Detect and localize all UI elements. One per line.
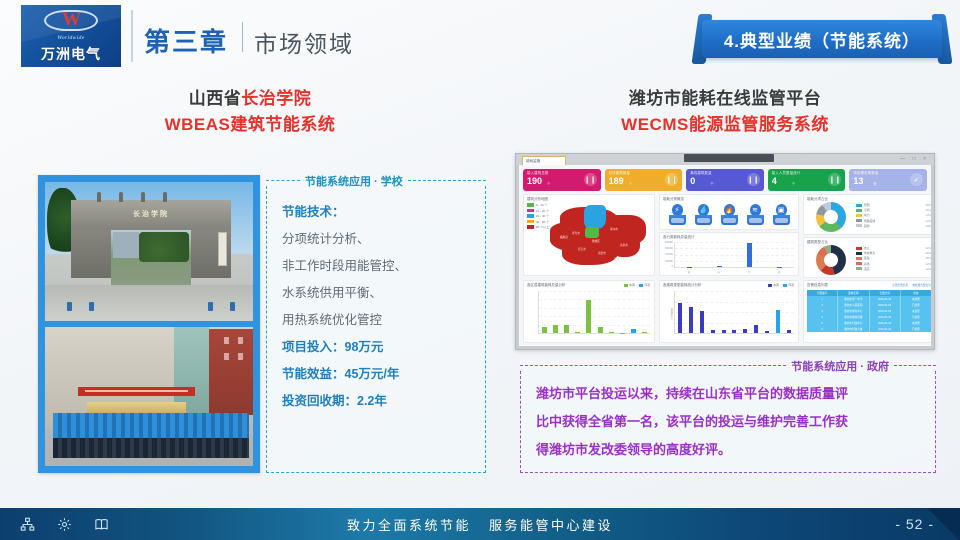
right-title-line2: WECMS能源监管服务系统 bbox=[500, 112, 950, 138]
legend-value: 10% bbox=[925, 224, 931, 228]
building-type-donut-panel: 建筑类型占比 办公32% 学校教育28% 医院18% 商场12% 酒店10% bbox=[803, 237, 931, 278]
chapter-subtitle: 市场领域 bbox=[254, 25, 354, 59]
kpi-unit: 条 bbox=[873, 181, 876, 186]
panel-title: 各区县建筑能耗总量分析 bbox=[527, 283, 566, 288]
legend-value: 26% bbox=[925, 208, 931, 212]
y-axis-labels: 400000 300000 200000 100000 0 bbox=[661, 241, 673, 268]
legend-label: 其他 bbox=[864, 224, 923, 228]
legend-value: 32% bbox=[925, 246, 931, 250]
photo-gallery: 长治学院 bbox=[38, 175, 260, 473]
district-energy-chart: 各区县建筑能耗总量分析 本期 同期 bbox=[523, 280, 655, 343]
map-panel: 建筑分布地图 0 - 10 个 10 - 20 个 20 - 40 个 40 -… bbox=[523, 194, 655, 276]
legend-value: 14% bbox=[925, 213, 931, 217]
bar bbox=[687, 267, 692, 268]
company-logo: W Worldwide 万洲电气 bbox=[21, 5, 121, 67]
bar bbox=[678, 303, 682, 333]
table-link[interactable]: 全部告警信息 bbox=[892, 283, 908, 287]
panel-title: 建筑类型占比 bbox=[807, 240, 828, 245]
building-type-energy-chart: 各建筑类型能耗统计分析 本期 同期 能耗(kgce) bbox=[659, 280, 799, 343]
header-divider bbox=[131, 10, 133, 62]
map-region-label: 安丘市 bbox=[578, 247, 586, 251]
bar bbox=[553, 325, 558, 333]
category-energy-chart: 各分类能耗总量统计 400000 300000 200000 100000 0 bbox=[659, 232, 799, 276]
bar bbox=[732, 330, 736, 333]
map-region-label: 临朐县 bbox=[560, 235, 568, 239]
map-region-highlight bbox=[584, 205, 606, 229]
legend-label: 医院 bbox=[864, 256, 923, 260]
bar bbox=[765, 331, 769, 333]
y-tick: 400000 bbox=[665, 241, 673, 244]
left-title-line2: WBEAS建筑节能系统 bbox=[40, 112, 460, 138]
x-tick: 气 bbox=[748, 270, 750, 274]
y-tick: 0 bbox=[672, 265, 673, 268]
bar bbox=[754, 325, 758, 333]
government-application-box: 节能系统应用 · 政府 潍坊市平台投运以来，持续在山东省平台的数据质量评 比中获… bbox=[520, 360, 936, 473]
chapter-separator bbox=[242, 22, 243, 52]
map-region-label: 青州市 bbox=[610, 227, 618, 231]
school-box-content: 节能技术： 分项统计分析、 非工作时段用能管控、 水系统供用平衡、 用热系统优化… bbox=[282, 199, 476, 415]
legend-value: 10% bbox=[925, 267, 931, 271]
kpi-unit: 个 bbox=[547, 181, 550, 186]
logo-company-name: 万洲电气 bbox=[41, 44, 101, 64]
y-axis-title: 能耗(kgce) bbox=[669, 308, 673, 319]
left-case-title: 山西省长治学院 WBEAS建筑节能系统 bbox=[40, 86, 460, 139]
bar bbox=[722, 330, 726, 333]
legend-label: 同期 bbox=[644, 283, 650, 287]
kpi-unit: 个 bbox=[710, 181, 713, 186]
bar bbox=[542, 327, 547, 333]
school-row: 项目投入：98万元 bbox=[282, 334, 476, 361]
legend-label: 办公 bbox=[864, 246, 923, 250]
water-icon[interactable]: 💧 bbox=[695, 204, 712, 225]
school-row: 非工作时段用能管控、 bbox=[282, 253, 476, 280]
kpi-unit: 个 bbox=[629, 181, 632, 186]
legend-value: 12% bbox=[925, 219, 931, 223]
map-region-label: 昌邑市 bbox=[620, 243, 628, 247]
legend-value: 28% bbox=[925, 251, 931, 255]
gov-row: 比中获得全省第一名，该平台的投运与维护完善工作获 bbox=[536, 408, 922, 436]
map-legend: 0 - 10 个 10 - 20 个 20 - 40 个 40 - 80 个 8… bbox=[527, 203, 549, 231]
bar bbox=[586, 300, 591, 333]
campus-gate-photo: 长治学院 bbox=[45, 182, 253, 321]
x-tick: 热 bbox=[778, 270, 780, 274]
bar bbox=[787, 330, 791, 333]
y-tick: 200000 bbox=[665, 253, 673, 256]
bar bbox=[776, 310, 780, 333]
left-title-highlight: 长治学院 bbox=[241, 89, 311, 108]
plot-area bbox=[538, 291, 650, 334]
kpi-card[interactable]: 待处理告警数量 13 条 ✓ bbox=[849, 169, 927, 191]
gov-row: 得潍坊市发改委领导的高度好评。 bbox=[536, 436, 922, 464]
table-row[interactable]: 6 潍坊市科技大厦 2019-01-04 已处理 bbox=[807, 326, 931, 332]
energy-type-panel: 能耗分类概览 ⚡ 💧 🔥 ≋ ▣ bbox=[659, 194, 799, 230]
legend-value: 18% bbox=[925, 256, 931, 260]
school-row: 节能效益：45万元/年 bbox=[282, 361, 476, 388]
icon-glyph: ⚡ bbox=[675, 206, 680, 214]
slogan-right: 服务能管中心建设 bbox=[489, 515, 613, 534]
legend-value: 38% bbox=[925, 203, 931, 207]
bar bbox=[575, 332, 580, 333]
chart-legend: 本期 同期 bbox=[624, 283, 650, 287]
icon-glyph: ▣ bbox=[778, 206, 785, 214]
logo-subtitle: Worldwide bbox=[57, 35, 84, 41]
legend-label: 特殊区域 bbox=[864, 219, 923, 223]
cell: 2019-01-04 bbox=[870, 326, 901, 332]
legend-label: 本期 bbox=[629, 283, 635, 287]
donut-chart[interactable] bbox=[816, 245, 846, 275]
bar bbox=[743, 329, 747, 333]
right-title-line1: 潍坊市能耗在线监管平台 bbox=[500, 86, 950, 112]
map-region-label: 诸城市 bbox=[614, 257, 622, 261]
panel-title: 建筑分布地图 bbox=[527, 197, 548, 202]
y-axis-label: 能耗(kgce) bbox=[661, 291, 673, 334]
table-link[interactable]: 未处理告警信息 bbox=[912, 283, 931, 287]
legend-label: 本期 bbox=[773, 283, 779, 287]
panel-title: 告警信息列表 bbox=[807, 283, 828, 288]
legend-label: 空调 bbox=[864, 208, 923, 212]
donut-legend: 照明38% 空调26% 动力14% 特殊区域12% 其他10% bbox=[856, 203, 931, 229]
left-title-prefix: 山西省 bbox=[189, 89, 242, 108]
panel-title: 各建筑类型能耗统计分析 bbox=[663, 283, 702, 288]
logo-w-mark: W bbox=[44, 8, 98, 32]
gov-box-content: 潍坊市平台投运以来，持续在山东省平台的数据质量评 比中获得全省第一名，该平台的投… bbox=[536, 380, 922, 464]
legend-label: 同期 bbox=[788, 283, 794, 287]
electricity-icon[interactable]: ⚡ bbox=[669, 204, 686, 225]
bar bbox=[631, 329, 636, 333]
y-tick: 100000 bbox=[665, 260, 673, 263]
bar bbox=[564, 325, 569, 333]
gov-row: 潍坊市平台投运以来，持续在山东省平台的数据质量评 bbox=[536, 380, 922, 408]
ceremony-banner bbox=[78, 387, 194, 396]
browser-tab[interactable]: 能耗监管 bbox=[522, 156, 566, 165]
map-region-label: 寿光市 bbox=[572, 231, 580, 235]
cell: 已处理 bbox=[901, 326, 931, 332]
school-row: 分项统计分析、 bbox=[282, 226, 476, 253]
chart-legend: 本期 同期 bbox=[768, 283, 794, 287]
table-links[interactable]: 全部告警信息 未处理告警信息 bbox=[892, 283, 931, 287]
dashboard-screenshot: 能耗监管 — □ × 接入建筑总数 190 个 ❙❙ 在线建筑数量 189 个 … bbox=[515, 153, 935, 350]
weifang-map[interactable]: 寿光市 青州市 昌邑市 诸城市 安丘市 高密市 临朐县 潍城区 bbox=[548, 205, 652, 273]
bar-chart-icon: ❙❙ bbox=[747, 173, 760, 186]
map-region-label: 潍城区 bbox=[592, 239, 600, 243]
legend-label: 照明 bbox=[864, 203, 923, 207]
icon-glyph: ≋ bbox=[752, 206, 758, 214]
bar bbox=[689, 307, 693, 333]
x-axis-labels: 电 水 气 热 bbox=[674, 270, 794, 274]
cell: 6 bbox=[807, 326, 838, 332]
legend-label: 商场 bbox=[864, 262, 923, 266]
kpi-card[interactable]: 离线建筑数量 0 个 ❙❙ bbox=[686, 169, 764, 191]
icon-glyph: 💧 bbox=[699, 206, 708, 214]
kpi-card[interactable]: 接入建筑总数 190 个 ❙❙ bbox=[523, 169, 601, 191]
school-row: 投资回收期：2.2年 bbox=[282, 388, 476, 415]
legend-label: 学校教育 bbox=[864, 251, 923, 255]
alarm-table-panel: 告警信息列表 全部告警信息 未处理告警信息 告警编号 建筑名称 告警时间 状态 … bbox=[803, 280, 931, 343]
kpi-card-row: 接入建筑总数 190 个 ❙❙ 在线建筑数量 189 个 ❙❙ 离线建筑数量 0… bbox=[523, 169, 927, 191]
coal-icon[interactable]: ▣ bbox=[773, 204, 790, 225]
kpi-card[interactable]: 在线建筑数量 189 个 ❙❙ bbox=[605, 169, 683, 191]
bar bbox=[598, 327, 603, 333]
bar bbox=[642, 332, 647, 333]
bar bbox=[711, 330, 715, 333]
tooltip-box bbox=[684, 154, 774, 162]
y-tick: 300000 bbox=[665, 247, 673, 250]
footer-corner-accent bbox=[926, 508, 960, 540]
window-buttons[interactable]: — □ × bbox=[900, 156, 929, 162]
gate-caption: 长治学院 bbox=[71, 209, 231, 219]
chapter-title: 第三章 bbox=[144, 22, 228, 59]
panel-title: 能耗分项占比 bbox=[807, 197, 828, 202]
bar bbox=[609, 332, 614, 333]
x-tick: 电 bbox=[688, 270, 690, 274]
legend-value: 12% bbox=[925, 262, 931, 266]
kpi-unit: 个 bbox=[792, 181, 795, 186]
right-case-title: 潍坊市能耗在线监管平台 WECMS能源监管服务系统 bbox=[500, 86, 950, 139]
ceremony-photo bbox=[45, 327, 253, 466]
check-circle-icon: ✓ bbox=[910, 173, 923, 186]
bar bbox=[747, 243, 752, 267]
bar-chart-icon: ❙❙ bbox=[584, 173, 597, 186]
footer-slogan: 致力全面系统节能 服务能管中心建设 bbox=[0, 508, 960, 540]
school-row: 水系统供用平衡、 bbox=[282, 280, 476, 307]
legend-label: 酒店 bbox=[864, 267, 923, 271]
map-region-label: 高密市 bbox=[598, 251, 606, 255]
bar bbox=[700, 311, 704, 333]
logo-emblem-icon: W bbox=[44, 8, 98, 34]
gas-icon[interactable]: 🔥 bbox=[721, 204, 738, 225]
slide-header: W Worldwide 万洲电气 第三章 市场领域 4.典型业绩（节能系统） bbox=[0, 0, 960, 72]
x-tick: 水 bbox=[718, 270, 720, 274]
dashboard-page: 接入建筑总数 190 个 ❙❙ 在线建筑数量 189 个 ❙❙ 离线建筑数量 0… bbox=[519, 165, 931, 346]
kpi-card[interactable]: 接入人员数量统计 4 个 ❙❙ bbox=[768, 169, 846, 191]
cell: 潍坊市科技大厦 bbox=[838, 326, 869, 332]
section-badge: 4.典型业绩（节能系统） bbox=[702, 20, 942, 58]
panel-title: 各分类能耗总量统计 bbox=[663, 235, 695, 240]
slide-footer: 致力全面系统节能 服务能管中心建设 - 52 - bbox=[0, 508, 960, 540]
donut-legend: 办公32% 学校教育28% 医院18% 商场12% 酒店10% bbox=[856, 246, 931, 272]
bar bbox=[717, 266, 722, 267]
map-region-center bbox=[585, 227, 599, 238]
energy-share-donut-panel: 能耗分项占比 照明38% 空调26% 动力14% 特殊区域12% 其他10% bbox=[803, 194, 931, 235]
plot-area bbox=[674, 242, 794, 268]
icon-glyph: 🔥 bbox=[725, 206, 734, 214]
heat-icon[interactable]: ≋ bbox=[747, 204, 764, 225]
donut-chart[interactable] bbox=[816, 202, 846, 232]
school-row: 节能技术： bbox=[282, 199, 476, 226]
plot-area bbox=[674, 291, 794, 334]
legend-label: 动力 bbox=[864, 213, 923, 217]
alarm-table: 告警编号 建筑名称 告警时间 状态 1 潍坊市第一中学 2019-01-02 未… bbox=[807, 290, 931, 339]
legend-label: 0 - 10 个 bbox=[536, 203, 548, 207]
panel-title: 能耗分类概览 bbox=[663, 197, 684, 202]
school-application-box: 节能系统应用 · 学校 节能技术： 分项统计分析、 非工作时段用能管控、 水系统… bbox=[266, 175, 486, 473]
browser-chrome: 能耗监管 — □ × bbox=[516, 154, 934, 165]
school-row: 用热系统优化管控 bbox=[282, 307, 476, 334]
slogan-left: 致力全面系统节能 bbox=[347, 515, 471, 534]
